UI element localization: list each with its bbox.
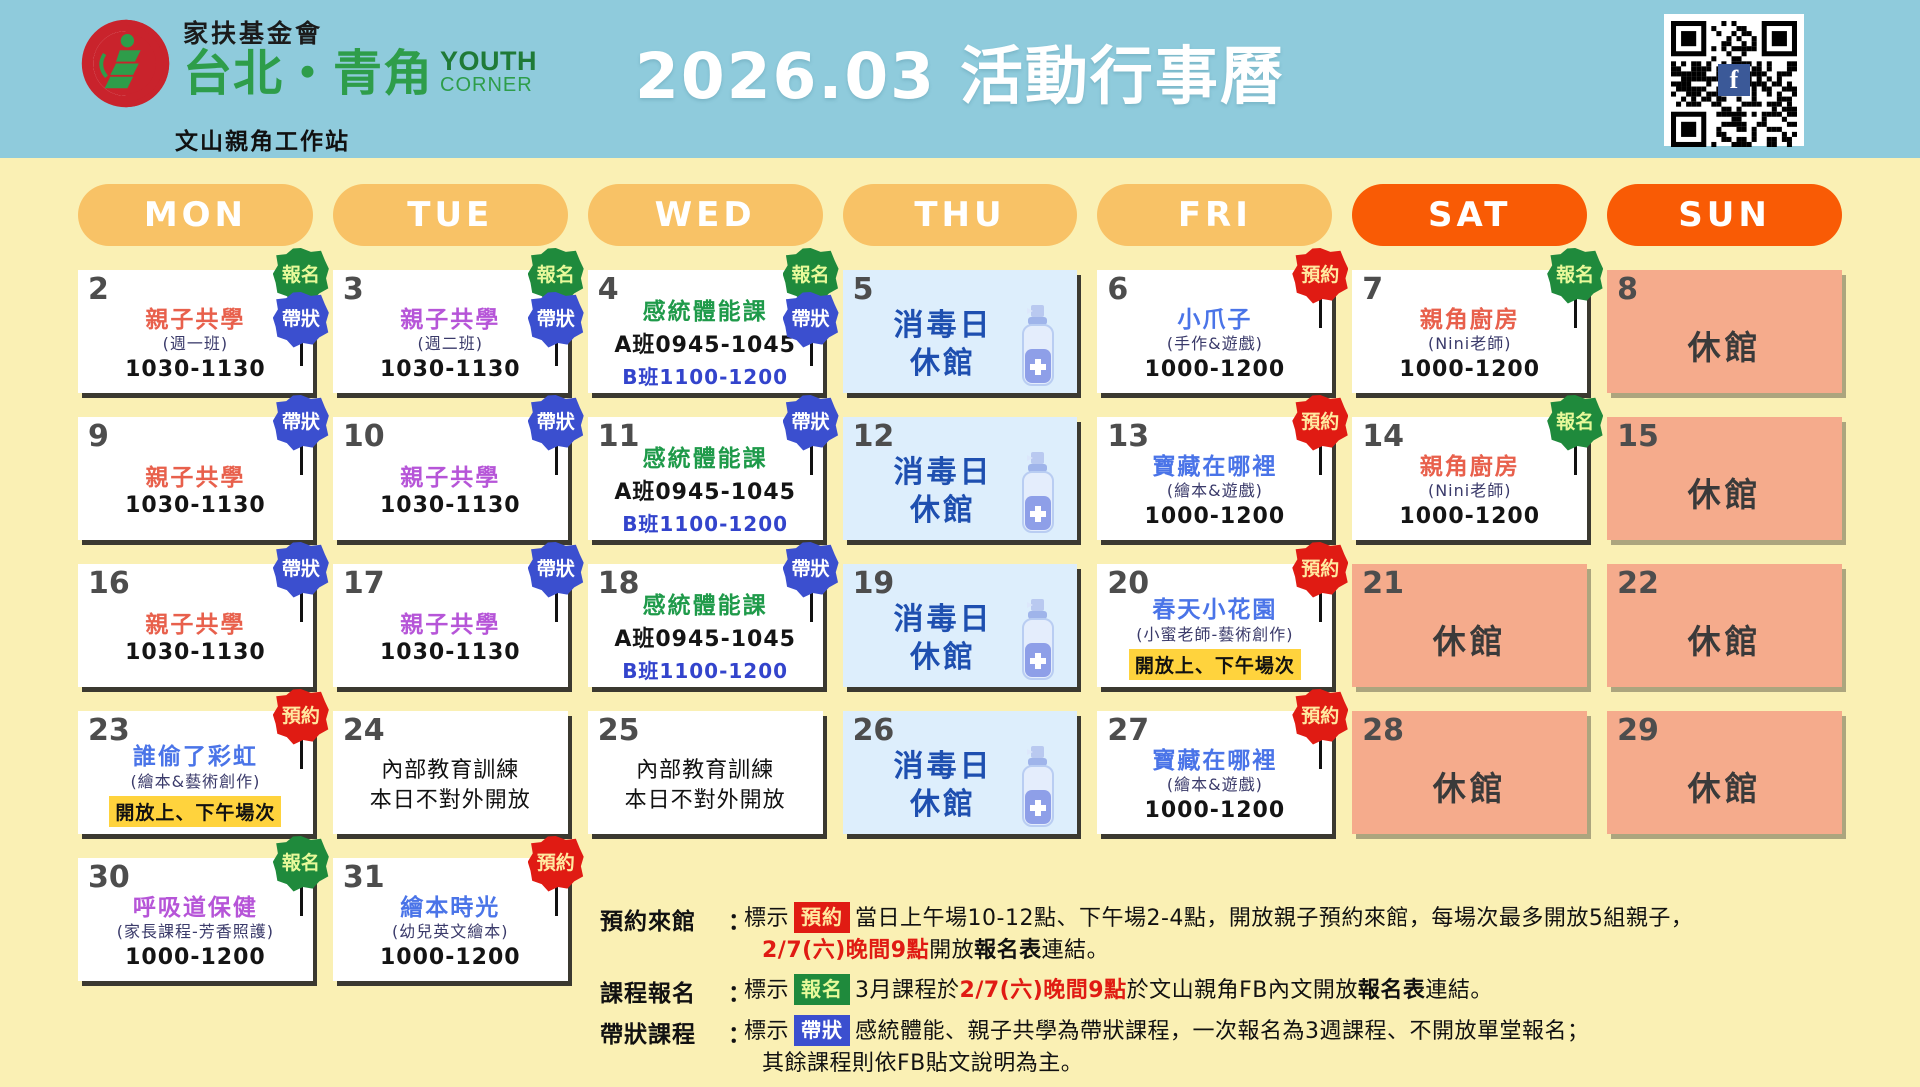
- calendar-weeks: 2親子共學(週一班)1030-1130報名帶狀3親子共學(週二班)1030-11…: [78, 270, 1842, 981]
- day-number: 14: [1362, 422, 1404, 452]
- day-number: 10: [343, 422, 385, 452]
- day-number: 30: [88, 863, 130, 893]
- day-cell-8[interactable]: 8休館: [1607, 270, 1842, 393]
- facebook-icon: f: [1718, 64, 1750, 96]
- day-number: 20: [1107, 569, 1149, 599]
- badge-pin-stick: [555, 592, 558, 622]
- event-subtitle: (Nini老師): [1428, 334, 1512, 355]
- event-title: 感統體能課: [643, 299, 768, 325]
- weekday-pill-sat: SAT: [1352, 184, 1587, 246]
- closed-label: 休館: [1688, 615, 1762, 663]
- event-time-secondary: B班1100-1200: [622, 361, 788, 390]
- day-note-line: 內部教育訓練: [636, 756, 774, 786]
- day-number: 28: [1362, 716, 1404, 746]
- event-time: A班0945-1045: [614, 327, 796, 359]
- event-time: 1000-1200: [1145, 357, 1286, 382]
- badge-pin-stick: [1319, 298, 1322, 328]
- legend-text: 連結。: [1042, 938, 1110, 963]
- badge-pin-stick: [300, 886, 303, 916]
- legend-date-highlight: 2/7(六)晚間9點: [762, 938, 929, 963]
- event-title: 寶藏在哪裡: [1152, 748, 1277, 774]
- legend-colon: ：: [728, 902, 744, 936]
- event-subtitle: (繪本&藝術創作): [130, 772, 260, 793]
- legend-text: 其餘課程則依FB貼文說明為主。: [762, 1051, 1083, 1076]
- weekday-label: SAT: [1428, 195, 1511, 235]
- day-number: 3: [343, 275, 364, 305]
- event-subtitle: (小蜜老師-藝術創作): [1136, 625, 1293, 646]
- badge-pin-stick: [810, 445, 813, 475]
- event-subtitle: (手作&遊戲): [1167, 334, 1263, 355]
- day-number: 25: [598, 716, 640, 746]
- event-title: 親子共學: [400, 465, 500, 491]
- sanitize-day-label: 消毒日 休館: [893, 601, 992, 676]
- event-subtitle: (週二班): [418, 334, 484, 355]
- sanitizer-bottle-icon: [1015, 303, 1061, 387]
- sanitize-day-label: 消毒日 休館: [893, 454, 992, 529]
- day-cell-16[interactable]: 16親子共學1030-1130帶狀: [78, 564, 313, 687]
- day-number: 2: [88, 275, 109, 305]
- weekday-label: SUN: [1678, 195, 1771, 235]
- day-cell-5[interactable]: 5消毒日 休館: [843, 270, 1078, 393]
- event-time: 1030-1130: [125, 640, 266, 665]
- event-title: 誰偷了彩虹: [133, 744, 258, 770]
- badge-pin-stick: [810, 592, 813, 622]
- calendar-grid: MONTUEWEDTHUFRISATSUN 2親子共學(週一班)1030-113…: [0, 184, 1920, 981]
- day-number: 24: [343, 716, 385, 746]
- sanitize-day-label: 消毒日 休館: [893, 307, 992, 382]
- day-cell-10[interactable]: 10親子共學1030-1130帶狀: [333, 417, 568, 540]
- legend-second-line: 2/7(六)晚間9點開放報名表連結。: [744, 935, 1693, 967]
- legend-key: 課程報名: [600, 974, 728, 1008]
- badge-pin-stick: [555, 445, 558, 475]
- event-time-secondary: B班1100-1200: [622, 508, 788, 537]
- day-note-line: 本日不對外開放: [370, 786, 531, 816]
- day-note-line: 內部教育訓練: [381, 756, 519, 786]
- event-subtitle: (繪本&遊戲): [1167, 481, 1263, 502]
- event-subtitle: (繪本&遊戲): [1167, 775, 1263, 796]
- badge-pin-stick: [555, 886, 558, 916]
- badge-pin-stick: [300, 592, 303, 622]
- day-cell-19[interactable]: 19消毒日 休館: [843, 564, 1078, 687]
- day-cell-25[interactable]: 25內部教育訓練本日不對外開放: [588, 711, 823, 834]
- day-number: 5: [853, 275, 874, 305]
- day-cell-9[interactable]: 9親子共學1030-1130帶狀: [78, 417, 313, 540]
- event-time: 1000-1200: [380, 945, 521, 970]
- legend-form-link-text: 報名表: [1358, 978, 1426, 1003]
- closed-label: 休館: [1688, 321, 1762, 369]
- weekday-pill-mon: MON: [78, 184, 313, 246]
- weekday-pill-thu: THU: [843, 184, 1078, 246]
- event-title: 小爪子: [1177, 307, 1252, 333]
- legend-prefix: 標示: [744, 978, 789, 1003]
- day-cell-22[interactable]: 22休館: [1607, 564, 1842, 687]
- weekday-label: MON: [144, 195, 247, 235]
- event-time: 1030-1130: [125, 493, 266, 518]
- legend-text: 於文山親角FB內文開放: [1127, 978, 1358, 1003]
- day-cell-27[interactable]: 27寶藏在哪裡(繪本&遊戲)1000-1200預約: [1097, 711, 1332, 834]
- event-title: 繪本時光: [400, 895, 500, 921]
- day-cell-31[interactable]: 31繪本時光(幼兒英文繪本)1000-1200預約: [333, 858, 568, 981]
- legend-text: 當日上午場10-12點、下午場2-4點，開放親子預約來館，每場次最多開放5組親子…: [855, 906, 1693, 931]
- badge-pin-stick: [1319, 592, 1322, 622]
- legend-prefix: 標示: [744, 906, 789, 931]
- event-time: A班0945-1045: [614, 621, 796, 653]
- sanitizer-bottle-icon: [1015, 744, 1061, 828]
- event-highlight-note: 開放上、下午場次: [1129, 649, 1301, 680]
- day-number: 21: [1362, 569, 1404, 599]
- day-cell-6[interactable]: 6小爪子(手作&遊戲)1000-1200預約: [1097, 270, 1332, 393]
- badge-pin-stick: [1574, 445, 1577, 475]
- day-number: 7: [1362, 275, 1383, 305]
- station-name: 文山親角工作站: [175, 122, 350, 156]
- weekday-label: FRI: [1178, 195, 1252, 235]
- page-title: 2026.03 活動行事曆: [0, 26, 1920, 117]
- day-number: 11: [598, 422, 640, 452]
- event-title: 寶藏在哪裡: [1152, 454, 1277, 480]
- event-subtitle: (Nini老師): [1428, 481, 1512, 502]
- legend-tag-book: 預約: [794, 902, 850, 933]
- day-number: 27: [1107, 716, 1149, 746]
- closed-label: 休館: [1688, 468, 1762, 516]
- closed-label: 休館: [1433, 762, 1507, 810]
- day-cell-13[interactable]: 13寶藏在哪裡(繪本&遊戲)1000-1200預約: [1097, 417, 1332, 540]
- legend: 預約來館：標示預約當日上午場10-12點、下午場2-4點，開放親子預約來館，每場…: [600, 902, 1880, 1087]
- event-time: 1030-1130: [125, 357, 266, 382]
- event-time: 1030-1130: [380, 640, 521, 665]
- day-cell-17[interactable]: 17親子共學1030-1130帶狀: [333, 564, 568, 687]
- day-cell-11[interactable]: 11感統體能課A班0945-1045B班1100-1200帶狀: [588, 417, 823, 540]
- weekday-label: TUE: [407, 195, 493, 235]
- badge-pin-stick: [1319, 445, 1322, 475]
- day-number: 6: [1107, 275, 1128, 305]
- legend-date-highlight: 2/7(六)晚間9點: [960, 978, 1127, 1003]
- day-cell-4[interactable]: 4感統體能課A班0945-1045B班1100-1200報名帶狀: [588, 270, 823, 393]
- day-cell-20[interactable]: 20春天小花園(小蜜老師-藝術創作)開放上、下午場次預約: [1097, 564, 1332, 687]
- calendar-week-row: 16親子共學1030-1130帶狀17親子共學1030-1130帶狀18感統體能…: [78, 564, 1842, 687]
- day-number: 9: [88, 422, 109, 452]
- calendar-week-row: 23誰偷了彩虹(繪本&藝術創作)開放上、下午場次預約24內部教育訓練本日不對外開…: [78, 711, 1842, 834]
- legend-text: 連結。: [1425, 978, 1493, 1003]
- legend-row-series: 帶狀課程：標示帶狀感統體能、親子共學為帶狀課程，一次報名為3週課程、不開放單堂報…: [600, 1015, 1880, 1080]
- day-number: 16: [88, 569, 130, 599]
- legend-tag-series: 帶狀: [794, 1015, 850, 1046]
- sanitize-day-label: 消毒日 休館: [893, 748, 992, 823]
- weekday-pill-wed: WED: [588, 184, 823, 246]
- weekday-pill-tue: TUE: [333, 184, 568, 246]
- day-cell-18[interactable]: 18感統體能課A班0945-1045B班1100-1200帶狀: [588, 564, 823, 687]
- day-number: 17: [343, 569, 385, 599]
- event-time: 1000-1200: [1399, 357, 1540, 382]
- event-time: 1000-1200: [125, 945, 266, 970]
- event-time: A班0945-1045: [614, 474, 796, 506]
- day-cell-26[interactable]: 26消毒日 休館: [843, 711, 1078, 834]
- calendar-week-row: 2親子共學(週一班)1030-1130報名帶狀3親子共學(週二班)1030-11…: [78, 270, 1842, 393]
- legend-row-book: 預約來館：標示預約當日上午場10-12點、下午場2-4點，開放親子預約來館，每場…: [600, 902, 1880, 967]
- qr-code-icon: f: [1671, 21, 1797, 139]
- day-cell-3[interactable]: 3親子共學(週二班)1030-1130報名帶狀: [333, 270, 568, 393]
- day-number: 18: [598, 569, 640, 599]
- day-cell-15[interactable]: 15休館: [1607, 417, 1842, 540]
- day-cell-12[interactable]: 12消毒日 休館: [843, 417, 1078, 540]
- day-number: 13: [1107, 422, 1149, 452]
- legend-colon: ：: [728, 1015, 744, 1049]
- day-cell-29[interactable]: 29休館: [1607, 711, 1842, 834]
- day-number: 15: [1617, 422, 1659, 452]
- day-cell-7[interactable]: 7親角廚房(Nini老師)1000-1200報名: [1352, 270, 1587, 393]
- event-subtitle: (週一班): [163, 334, 229, 355]
- event-title: 親子共學: [145, 465, 245, 491]
- event-highlight-note: 開放上、下午場次: [109, 796, 281, 827]
- day-number: 23: [88, 716, 130, 746]
- event-title: 親子共學: [400, 612, 500, 638]
- badge-pin-stick: [300, 445, 303, 475]
- day-note-line: 本日不對外開放: [625, 786, 786, 816]
- legend-body: 標示預約當日上午場10-12點、下午場2-4點，開放親子預約來館，每場次最多開放…: [744, 902, 1693, 967]
- event-title: 感統體能課: [643, 446, 768, 472]
- sanitizer-bottle-icon: [1015, 597, 1061, 681]
- day-number: 26: [853, 716, 895, 746]
- legend-body: 標示帶狀感統體能、親子共學為帶狀課程，一次報名為3週課程、不開放單堂報名；其餘課…: [744, 1015, 1590, 1080]
- event-time: 1000-1200: [1145, 798, 1286, 823]
- legend-row-signup: 課程報名：標示報名3月課程於2/7(六)晚間9點於文山親角FB內文開放報名表連結…: [600, 974, 1880, 1008]
- event-title: 呼吸道保健: [133, 895, 258, 921]
- weekday-label: WED: [655, 195, 756, 235]
- badge-pin-stick: [1574, 298, 1577, 328]
- event-subtitle: (幼兒英文繪本): [392, 922, 509, 943]
- facebook-qr-code[interactable]: f: [1664, 14, 1804, 146]
- day-cell-2[interactable]: 2親子共學(週一班)1030-1130報名帶狀: [78, 270, 313, 393]
- legend-body: 標示報名3月課程於2/7(六)晚間9點於文山親角FB內文開放報名表連結。: [744, 974, 1493, 1007]
- badge-pin-stick: [300, 739, 303, 769]
- event-title: 親子共學: [145, 612, 245, 638]
- day-number: 4: [598, 275, 619, 305]
- event-subtitle: (家長課程-芳香照護): [117, 922, 274, 943]
- day-cell-body: 休館: [1607, 270, 1842, 393]
- day-cell-30[interactable]: 30呼吸道保健(家長課程-芳香照護)1000-1200報名: [78, 858, 313, 981]
- legend-colon: ：: [728, 974, 744, 1008]
- event-title: 感統體能課: [643, 593, 768, 619]
- legend-key: 帶狀課程: [600, 1015, 728, 1049]
- calendar-week-row: 9親子共學1030-1130帶狀10親子共學1030-1130帶狀11感統體能課…: [78, 417, 1842, 540]
- page-header: 家扶基金會 台北・青角 YOUTH CORNER 文山親角工作站 2026.03…: [0, 0, 1920, 158]
- weekday-label: THU: [914, 195, 1005, 235]
- legend-text: 3月課程於: [855, 978, 960, 1003]
- day-number: 31: [343, 863, 385, 893]
- event-title: 春天小花園: [1152, 597, 1277, 623]
- closed-label: 休館: [1688, 762, 1762, 810]
- badge-pin-stick: [1319, 739, 1322, 769]
- event-time: 1030-1130: [380, 493, 521, 518]
- event-title: 親子共學: [400, 307, 500, 333]
- event-title: 親角廚房: [1420, 307, 1520, 333]
- day-number: 19: [853, 569, 895, 599]
- legend-form-link-text: 報名表: [974, 938, 1042, 963]
- day-cell-24[interactable]: 24內部教育訓練本日不對外開放: [333, 711, 568, 834]
- day-number: 12: [853, 422, 895, 452]
- day-cell-21[interactable]: 21休館: [1352, 564, 1587, 687]
- day-cell-28[interactable]: 28休館: [1352, 711, 1587, 834]
- day-number: 8: [1617, 275, 1638, 305]
- event-title: 親子共學: [145, 307, 245, 333]
- sanitizer-bottle-icon: [1015, 450, 1061, 534]
- event-title: 親角廚房: [1420, 454, 1520, 480]
- legend-prefix: 標示: [744, 1019, 789, 1044]
- day-cell-14[interactable]: 14親角廚房(Nini老師)1000-1200報名: [1352, 417, 1587, 540]
- event-time: 1000-1200: [1145, 504, 1286, 529]
- day-cell-23[interactable]: 23誰偷了彩虹(繪本&藝術創作)開放上、下午場次預約: [78, 711, 313, 834]
- weekday-header-row: MONTUEWEDTHUFRISATSUN: [78, 184, 1842, 246]
- legend-second-line: 其餘課程則依FB貼文說明為主。: [744, 1048, 1590, 1080]
- closed-label: 休館: [1433, 615, 1507, 663]
- legend-text: 感統體能、親子共學為帶狀課程，一次報名為3週課程、不開放單堂報名；: [855, 1019, 1590, 1044]
- event-time: 1000-1200: [1399, 504, 1540, 529]
- legend-key: 預約來館: [600, 902, 728, 936]
- day-number: 22: [1617, 569, 1659, 599]
- weekday-pill-sun: SUN: [1607, 184, 1842, 246]
- weekday-pill-fri: FRI: [1097, 184, 1332, 246]
- legend-text: 開放: [929, 938, 974, 963]
- day-number: 29: [1617, 716, 1659, 746]
- event-time: 1030-1130: [380, 357, 521, 382]
- event-time-secondary: B班1100-1200: [622, 655, 788, 684]
- legend-tag-signup: 報名: [794, 974, 850, 1005]
